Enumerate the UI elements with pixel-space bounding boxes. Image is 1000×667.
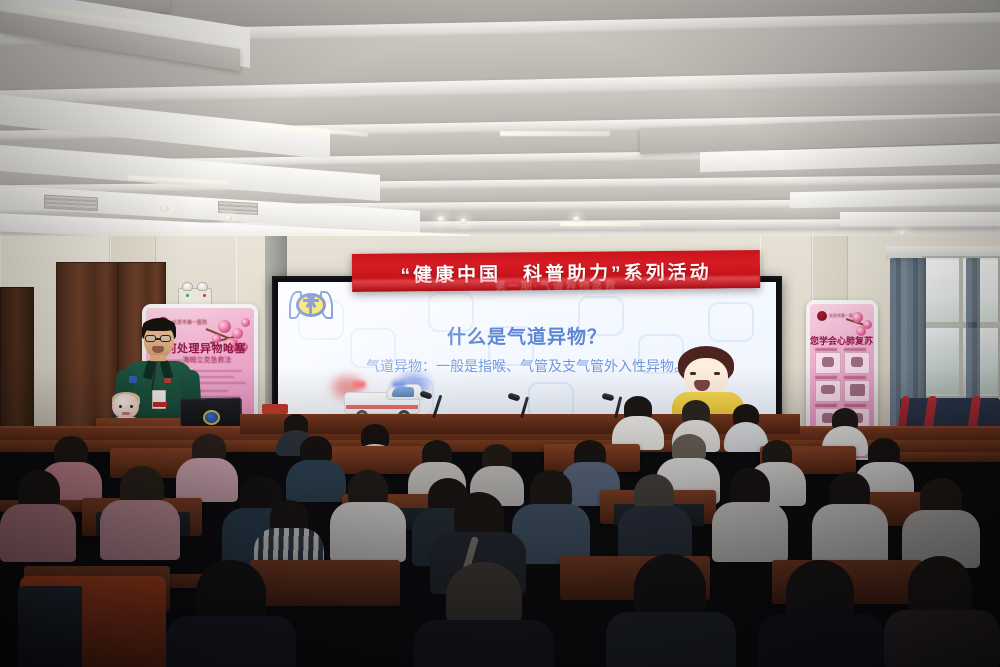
window bbox=[922, 256, 1000, 398]
audience-person bbox=[100, 466, 180, 558]
medical-emblem-icon bbox=[290, 290, 332, 320]
presenter-shoulder-patch bbox=[129, 376, 137, 383]
laptop-logo-icon bbox=[203, 410, 220, 425]
presenter-glasses bbox=[160, 335, 171, 342]
table-equipment-red bbox=[262, 404, 288, 414]
audience-person bbox=[618, 474, 692, 562]
window-curtain-far[interactable] bbox=[966, 258, 980, 418]
microphone-2[interactable] bbox=[506, 392, 536, 418]
audience-person bbox=[812, 472, 888, 562]
door-left-narrow[interactable] bbox=[0, 287, 34, 427]
slide-title: 什么是气道异物？ bbox=[278, 322, 776, 349]
hospital-logo-icon bbox=[817, 311, 827, 321]
lecture-hall-photo: 什么是气道异物？ 气道异物：一般是指喉、气管及支气管外入性异物。 bbox=[0, 0, 1000, 667]
ceiling-strip-light bbox=[500, 131, 610, 136]
microphone-1[interactable] bbox=[420, 390, 450, 418]
ceiling bbox=[0, 0, 1000, 248]
audience-person bbox=[0, 470, 76, 560]
event-banner: “健康中国 科普助力”系列活动 第一期·气道异物急救 bbox=[352, 250, 760, 292]
recessed-downlight bbox=[573, 216, 580, 222]
presenter-id-badge bbox=[152, 390, 166, 409]
ceiling-air-vent bbox=[44, 195, 98, 212]
audience-person bbox=[330, 470, 406, 560]
recessed-downlight bbox=[460, 218, 467, 224]
manikin-head bbox=[112, 394, 139, 419]
presenter-hair-top bbox=[143, 319, 175, 331]
ceiling-strip-light bbox=[560, 222, 640, 226]
audience-person bbox=[166, 560, 296, 667]
recessed-downlight bbox=[437, 216, 445, 222]
ceiling-air-vent bbox=[218, 201, 258, 215]
audience-person bbox=[712, 468, 788, 560]
presenter-glasses bbox=[145, 335, 156, 342]
poster-right-title: 您学会心肺复苏了吗 bbox=[810, 334, 874, 347]
audience-person bbox=[606, 554, 736, 667]
audience-person bbox=[884, 556, 1000, 667]
emergency-light-fixture bbox=[178, 288, 212, 305]
jacket-dark-panel bbox=[18, 586, 82, 667]
recessed-downlight bbox=[224, 215, 232, 221]
audience-person bbox=[902, 478, 980, 566]
recessed-downlight bbox=[160, 205, 169, 212]
audience-person bbox=[414, 562, 554, 667]
audience-person bbox=[758, 560, 884, 667]
